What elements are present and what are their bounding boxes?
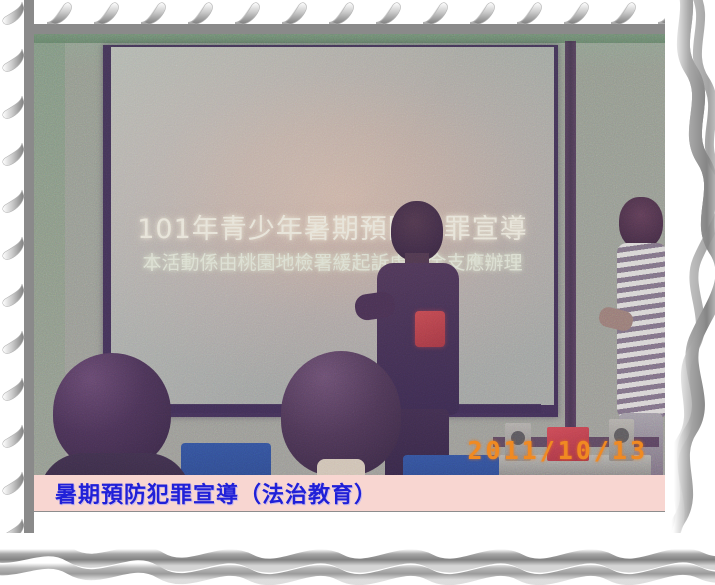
frame-edge-left [0,0,34,585]
photograph: 101年青少年暑期預防犯罪宣導 本活動係由桃園地檢署緩起訴處分金支應辦理 [31,31,670,511]
audience-center-head [281,351,401,476]
caption-text: 暑期預防犯罪宣導（法治教育） [31,477,377,509]
photo-frame: 101年青少年暑期預防犯罪宣導 本活動係由桃園地檢署緩起訴處分金支應辦理 [30,30,671,512]
frame-edge-bottom [0,533,715,585]
frame-edge-right [665,0,715,585]
caption-band: 暑期預防犯罪宣導（法治教育） [31,475,670,511]
presenter-head [391,201,443,261]
screen-support-pole [565,41,576,441]
standing-person-head [619,197,663,249]
camera-date-stamp: 2011/10/13 [467,436,648,465]
framed-photo-card: 101年青少年暑期預防犯罪宣導 本活動係由桃園地檢署緩起訴處分金支應辦理 [0,0,715,585]
frame-edge-top [0,0,715,34]
presenter-held-red-object [415,311,445,347]
